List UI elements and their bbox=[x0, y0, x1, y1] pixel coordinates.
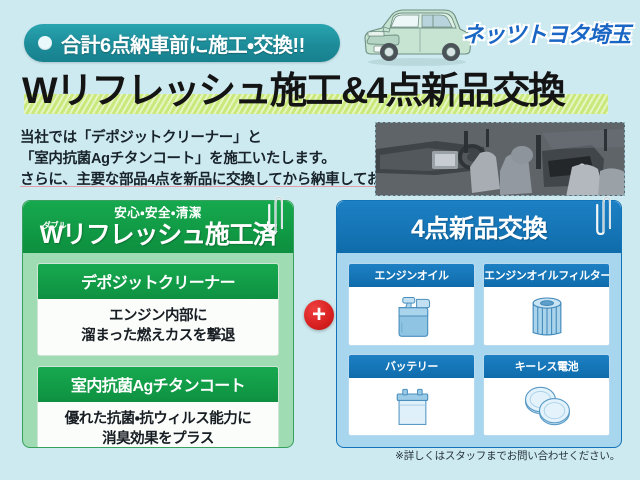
oil-filter-glyph bbox=[522, 292, 572, 340]
car-photo bbox=[358, 2, 476, 68]
service-card-description: 優れた抗菌・抗ウィルス能力に 消臭効果をプラス bbox=[38, 402, 278, 447]
oil-jug-icon bbox=[349, 287, 474, 345]
service-card-desc-line-2: 消臭効果をプラス bbox=[42, 429, 274, 447]
left-panel-title: Wリフレッシュ施工済 bbox=[40, 220, 277, 250]
description-block: 当社では「デポジットクリーナー」と 「室内抗菌Agチタンコート」を施工いたします… bbox=[20, 128, 380, 191]
part-tile-keyless-battery: キーレス電池 bbox=[483, 354, 610, 437]
service-card-desc-line-1: 優れた抗菌・抗ウィルス能力に bbox=[42, 409, 274, 429]
oil-jug-glyph bbox=[387, 292, 437, 340]
description-line-2: 「室内抗菌Agチタンコート」を施工いたします。 bbox=[20, 149, 380, 170]
page-title: Wリフレッシュ施工&4点新品交換 bbox=[22, 68, 634, 114]
part-tile-label: エンジンオイル bbox=[349, 264, 474, 287]
left-panel-body: デポジットクリーナー エンジン内部に 溜まった燃えカスを撃退 室内抗菌Agチタン… bbox=[23, 253, 293, 447]
plus-badge-icon: + bbox=[304, 300, 334, 330]
coin-cell-glyph bbox=[519, 383, 575, 429]
service-card-deposit-cleaner: デポジットクリーナー エンジン内部に 溜まった燃えカスを撃退 bbox=[37, 263, 279, 356]
part-tile-engine-oil: エンジンオイル bbox=[348, 263, 475, 346]
right-panel-four-new-parts: 4点新品交換 エンジンオイル bbox=[336, 200, 622, 448]
battery-glyph bbox=[387, 382, 437, 430]
service-card-ag-titanium-coat: 室内抗菌Agチタンコート 優れた抗菌・抗ウィルス能力に 消臭効果をプラス bbox=[37, 366, 279, 447]
left-panel-inner: 安心・安全・清潔 Wリフレッシュ施工済 デポジットクリーナー エンジン内部に 溜… bbox=[23, 201, 293, 447]
service-card-desc-line-1: エンジン内部に bbox=[42, 306, 274, 326]
dot-icon bbox=[38, 36, 52, 50]
left-panel-w-refresh: 安心・安全・清潔 Wリフレッシュ施工済 デポジットクリーナー エンジン内部に 溜… bbox=[22, 200, 294, 448]
service-card-title: デポジットクリーナー bbox=[38, 264, 278, 299]
battery-icon bbox=[349, 378, 474, 436]
part-tile-label: キーレス電池 bbox=[484, 355, 609, 378]
part-tile-battery: バッテリー bbox=[348, 354, 475, 437]
left-panel-subtitle: 安心・安全・清潔 bbox=[114, 206, 202, 220]
oil-filter-icon bbox=[484, 287, 609, 345]
service-card-title: 室内抗菌Agチタンコート bbox=[38, 367, 278, 402]
interior-photo bbox=[375, 122, 625, 196]
paperclip-icon bbox=[596, 195, 611, 235]
part-tile-label: エンジンオイルフィルター bbox=[484, 264, 609, 287]
headline-block: Wリフレッシュ施工&4点新品交換 bbox=[0, 68, 640, 116]
part-tile-label: バッテリー bbox=[349, 355, 474, 378]
brand-logo: ネッツトヨタ埼玉 bbox=[460, 18, 632, 48]
right-panel-inner: 4点新品交換 エンジンオイル bbox=[337, 201, 621, 447]
left-panel-header: 安心・安全・清潔 Wリフレッシュ施工済 bbox=[23, 201, 293, 253]
right-panel-header: 4点新品交換 bbox=[337, 201, 621, 253]
coin-cell-battery-icon bbox=[484, 378, 609, 436]
car-illustration-icon bbox=[358, 2, 476, 68]
paperclip-icon bbox=[268, 195, 283, 235]
right-panel-tiles: エンジンオイル エンジンオイルフィルター bbox=[337, 253, 621, 447]
part-tile-oil-filter: エンジンオイルフィルター bbox=[483, 263, 610, 346]
description-line-1: 当社では「デポジットクリーナー」と bbox=[20, 128, 380, 149]
service-card-description: エンジン内部に 溜まった燃えカスを撃退 bbox=[38, 299, 278, 355]
car-interior-illustration-icon bbox=[376, 123, 625, 196]
header-badge: 合計6点納車前に施工・交換!! bbox=[24, 24, 340, 62]
description-line-3: さらに、主要な部品4点を新品に交換してから納車しております! bbox=[20, 170, 380, 191]
right-panel-title: 4点新品交換 bbox=[411, 209, 547, 245]
header-badge-label: 合計6点納車前に施工・交換!! bbox=[61, 29, 305, 58]
advertisement-page: 合計6点納車前に施工・交換!! bbox=[0, 0, 640, 480]
plus-symbol: + bbox=[312, 305, 326, 325]
footer-note: ※詳しくはスタッフまでお問い合わせください。 bbox=[395, 448, 620, 463]
brand-logo-label: ネッツトヨタ埼玉 bbox=[462, 17, 630, 49]
service-card-desc-line-2: 溜まった燃えカスを撃退 bbox=[42, 326, 274, 346]
